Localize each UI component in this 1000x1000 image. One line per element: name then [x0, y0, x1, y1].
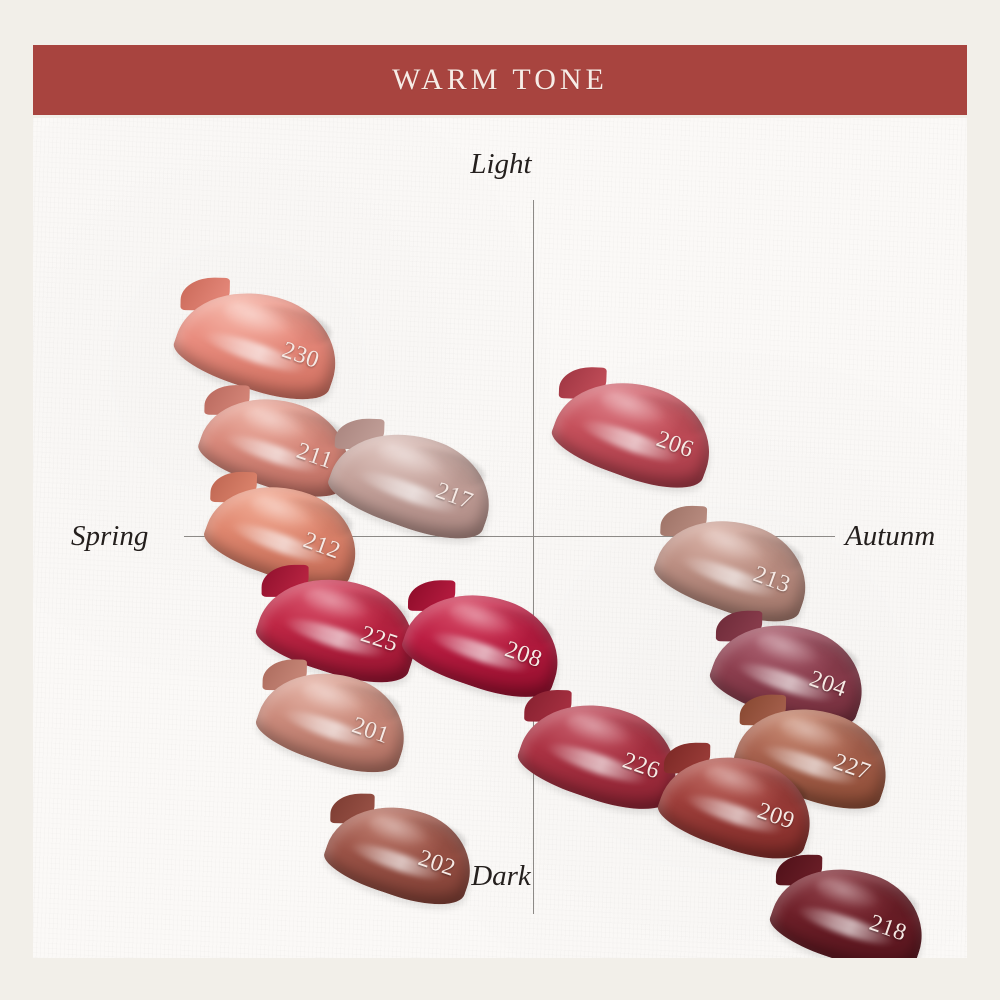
warm-tone-shade-chart: WARM TONE Light Dark Spring Autunm 23021… — [0, 0, 1000, 1000]
lipstick-swatch-202[interactable]: 202 — [319, 787, 486, 918]
header-band: WARM TONE — [33, 45, 967, 115]
chart-canvas: Light Dark Spring Autunm 230211217212225… — [33, 118, 967, 958]
lipstick-swatch-206[interactable]: 206 — [546, 360, 727, 502]
axis-label-spring: Spring — [71, 522, 148, 551]
y-axis-line — [533, 200, 534, 914]
axis-label-light: Light — [33, 150, 967, 179]
axis-label-autumn: Autunm — [845, 522, 935, 551]
page-title: WARM TONE — [392, 65, 608, 95]
